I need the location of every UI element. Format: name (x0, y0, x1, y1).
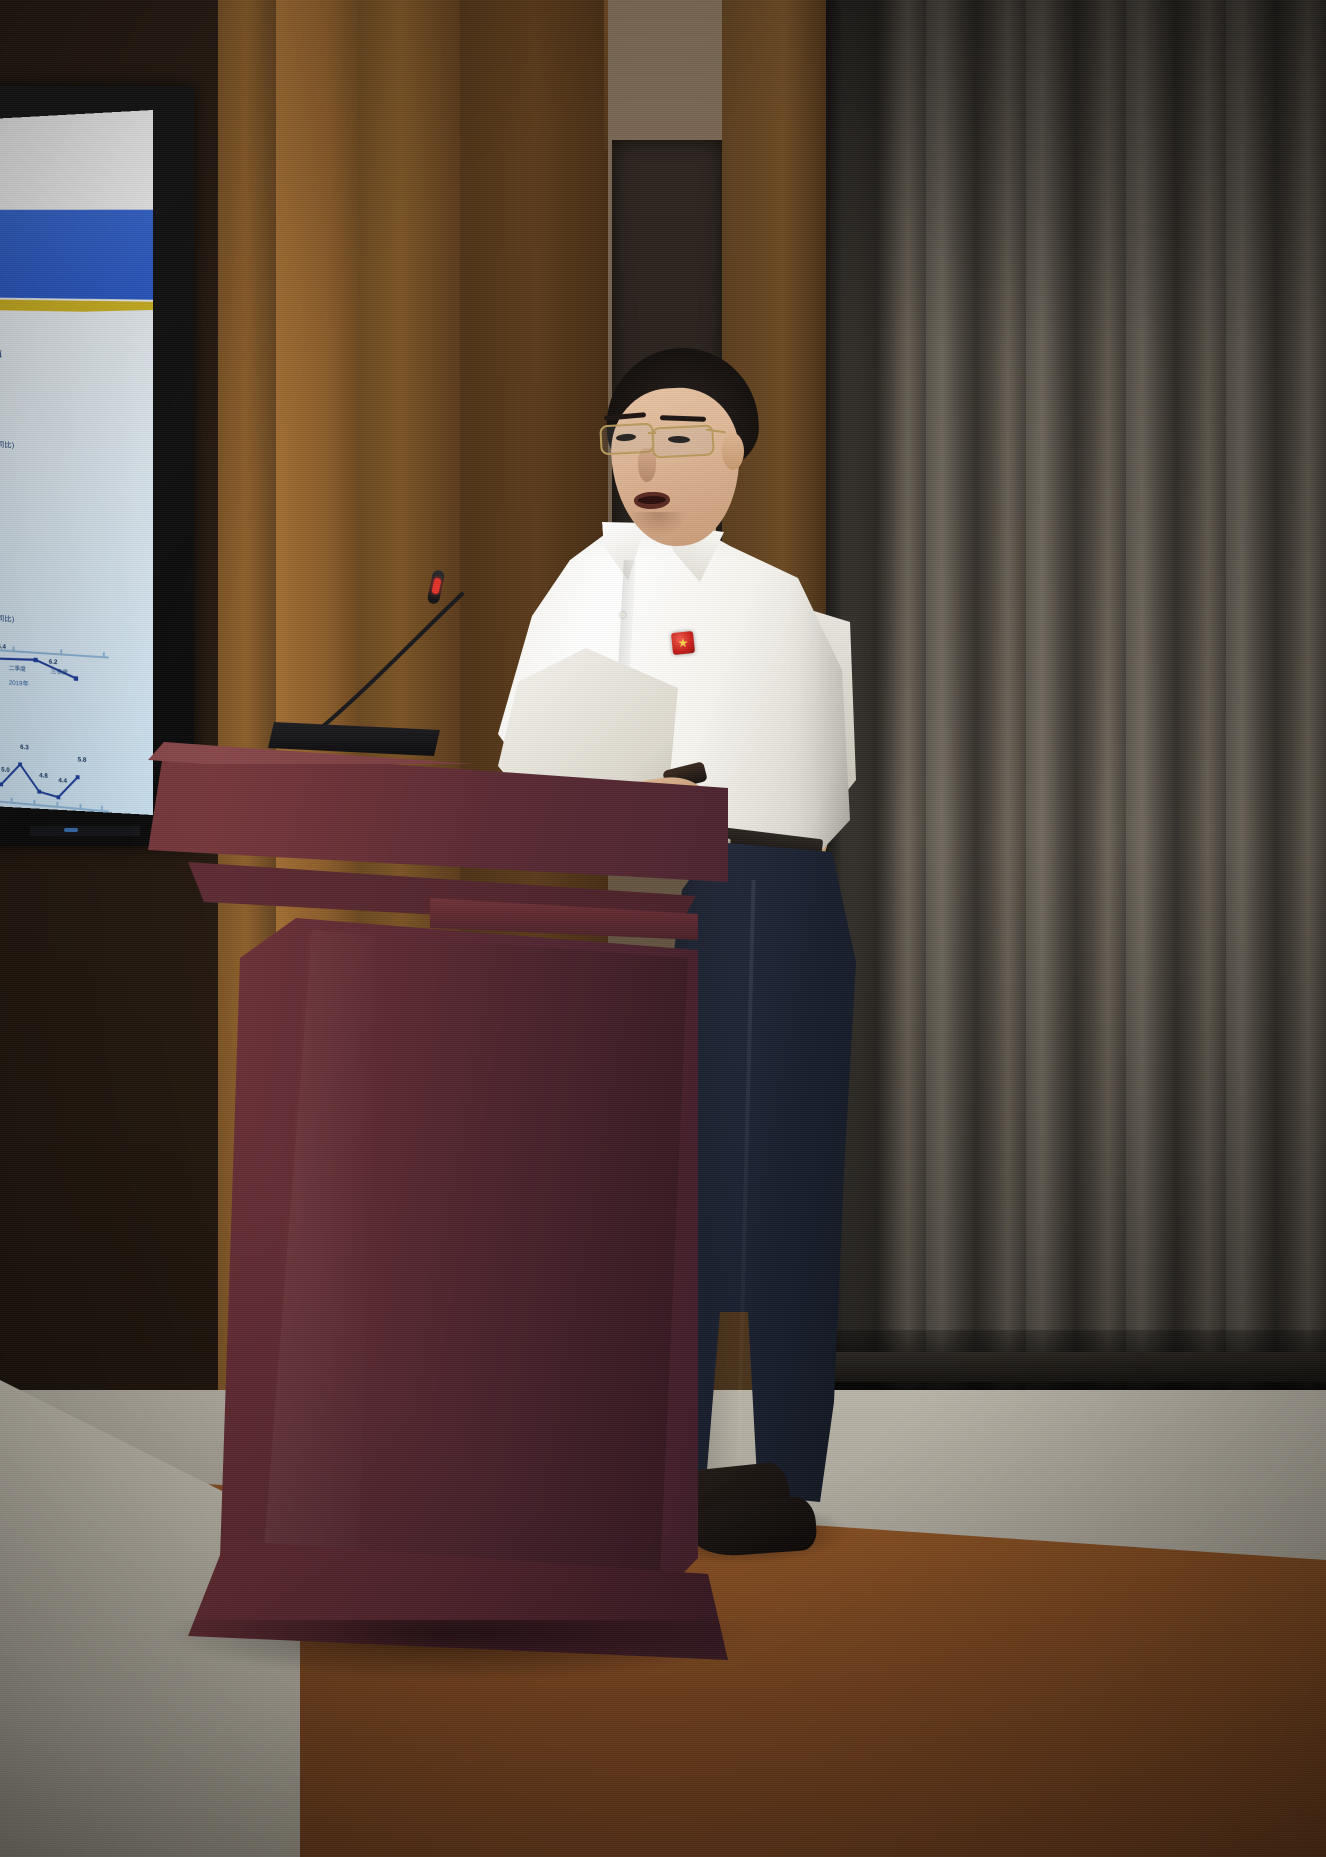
photo-scene: 国内生产总值 增长速度(季度同比) 6.4 6.4 6.2 (0, 0, 1326, 1857)
chin (628, 512, 688, 536)
shirt-button (620, 612, 626, 618)
ear-right (722, 432, 744, 470)
eyeglasses-bridge (648, 432, 656, 434)
podium-floor-shadow (168, 1620, 748, 1680)
nose (638, 448, 656, 482)
